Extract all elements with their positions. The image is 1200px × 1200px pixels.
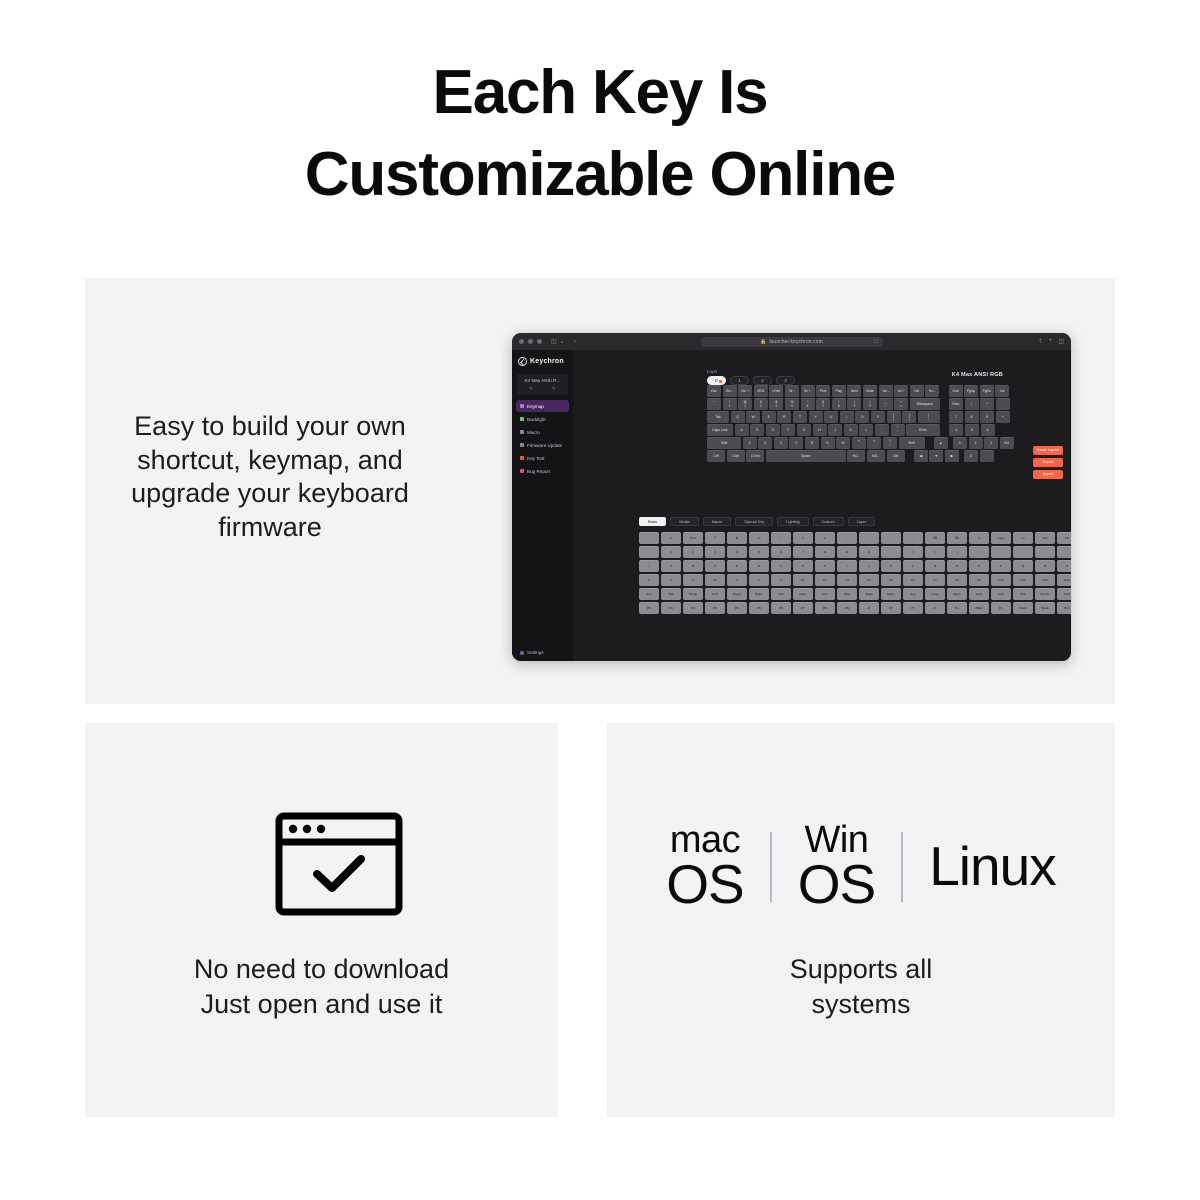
palette-key[interactable]: P0 [639,602,659,614]
keyboard-key[interactable]: I [840,411,854,423]
palette-key[interactable]: R [1035,560,1055,572]
palette-key[interactable]: E [749,560,769,572]
keyboard-key[interactable]: 6 [981,424,995,436]
palette-key[interactable]: Slep [837,588,857,600]
keyboard-key[interactable]: Scr + [738,385,752,397]
layout-action-buttons: Reset Layout Export Import [1033,446,1063,479]
palette-key[interactable]: 9 [837,546,857,558]
palette-key[interactable]: ' [1013,546,1033,558]
keyboard-key[interactable]: Vol - [879,385,893,397]
palette-key[interactable]: F6 [903,574,923,586]
page-title-line2: Customizable Online [0,134,1200,216]
palette-key[interactable]: P/ [881,602,901,614]
palette-key[interactable]: 7 [793,546,813,558]
palette-key[interactable]: Pwr [815,588,835,600]
keyboard-key[interactable]: 0 [964,450,978,462]
palette-key[interactable]: A [661,560,681,572]
palette-key[interactable]: ⎋ [661,532,681,544]
layer-button-0[interactable]: 0 [707,376,726,385]
os-linux-label: Linux [929,841,1055,893]
palette-key[interactable]: V [683,574,703,586]
traffic-light-close-icon[interactable] [519,339,524,344]
keyboard-key[interactable]: ▼ [929,450,943,462]
keyboard-key[interactable]: + [996,411,1010,423]
palette-key[interactable]: L [903,560,923,572]
palette-key[interactable]: F1 [793,574,813,586]
palette-key[interactable]: = [903,546,923,558]
palette-key[interactable]: 0 [859,546,879,558]
palette-key[interactable]: Lang [925,588,945,600]
keyboard-key[interactable]: Ctrl [887,450,905,462]
palette-key[interactable]: PEnt [969,602,989,614]
keyboard-key[interactable]: Ho... [925,385,939,397]
palette-key[interactable]: → [859,532,879,544]
palette-key[interactable]: F12 [1035,574,1055,586]
palette-key[interactable]: \ [969,546,989,558]
address-bar[interactable]: 🔒 launcher.keychron.com ☐ [701,337,883,347]
keyboard-key[interactable]: Y [809,411,823,423]
traffic-light-minimize-icon[interactable] [528,339,533,344]
keyboard-key[interactable]: Shift [899,437,925,449]
keyboard-key[interactable]: Play [832,385,846,397]
keyboard-key[interactable]: M [836,437,850,449]
palette-key[interactable]: ] [947,546,967,558]
keyboard-key[interactable]: W [746,411,760,423]
palette-key[interactable]: ⇥ [969,532,989,544]
palette-key[interactable]: Calc [991,588,1011,600]
keyboard-key[interactable]: Enter [906,424,940,436]
keyboard-key[interactable]: Ins [995,385,1009,397]
keyboard-key[interactable]: :; [875,424,889,436]
palette-key[interactable]: ` [639,546,659,558]
caption-supports-all-systems: Supports all systems [607,952,1115,1022]
keyboard-key[interactable]: Vol + [894,385,908,397]
palette-key[interactable]: K [881,560,901,572]
keyboard-key[interactable]: 1 [953,437,967,449]
chevron-left-icon[interactable]: ‹ [574,339,577,345]
keyboard-key[interactable]: L [859,424,873,436]
palette-key[interactable]: 3 [705,546,725,558]
keyboard-key[interactable]: Ctrl [707,450,725,462]
keyboard-gap [942,424,948,436]
keyboard-key[interactable]: Q [731,411,745,423]
layer-button-1[interactable]: 1 [730,376,749,385]
sidebar-item-label: Key Test [527,456,545,461]
palette-key[interactable]: ⇧ [793,532,813,544]
palette-key[interactable]: ← [837,532,857,544]
palette-key[interactable]: P1 [661,602,681,614]
sidebar-item-keymap[interactable]: Keymap [516,400,569,412]
keyboard-key[interactable]: 7 [949,411,963,423]
keyboard-key[interactable]: LOpt [727,450,745,462]
feature-card-no-download [85,723,558,1117]
layer-selector: Layer 0 1 2 3 [707,369,795,385]
palette-key[interactable]: . [1057,546,1071,558]
sidebar-item-backlight[interactable]: Backlight [516,413,569,425]
keyboard-key[interactable]: R [777,411,791,423]
palette-key[interactable]: Z [771,574,791,586]
palette-key[interactable]: Menu [881,588,901,600]
palette-key[interactable]: G [793,560,813,572]
palette-key[interactable]: 4 [727,546,747,558]
sidebar-item-label: Keymap [527,404,544,409]
address-bar-url: launcher.keychron.com [769,339,823,345]
palette-key[interactable]: Q [1013,560,1033,572]
keyboard-key[interactable]: *8 [832,398,846,410]
palette-key[interactable]: C [705,560,725,572]
keyboard-gap [941,385,947,397]
keyboard-key[interactable]: )0 [863,398,877,410]
palette-key[interactable]: PgUp [727,588,747,600]
launcher-description: Easy to build your own shortcut, keymap,… [110,410,430,544]
browser-titlebar: ◫ ⌄ ‹ 🔒 launcher.keychron.com ☐ ⇡ + ◫ [512,333,1071,350]
palette-key[interactable]: ⌦ [947,532,967,544]
palette-row: `1234567890-=[]\;',. [639,546,1059,558]
keyboard-key[interactable]: MO... [867,450,885,462]
palette-key[interactable]: P [991,560,1011,572]
keyboard-key[interactable]: U [824,411,838,423]
keyboard-key[interactable]: G [797,424,811,436]
keyboard-key[interactable]: H [813,424,827,436]
keyboard-gap [906,450,912,462]
keyboard-key[interactable]: (9 [847,398,861,410]
keyboard-key[interactable]: !1 [723,398,737,410]
palette-key[interactable]: Y [749,574,769,586]
palette-key[interactable]: P2 [683,602,703,614]
tab-macro[interactable]: Macro [703,517,732,526]
keymap-icon [520,404,524,408]
palette-key[interactable]: P7 [793,602,813,614]
palette-key[interactable]: End [705,588,725,600]
macro-icon [520,430,524,434]
device-card[interactable]: K4 Max ANSI R... ✎ ✎ [517,374,568,395]
keyboard-key[interactable]: X [758,437,772,449]
keyboard-row: ~`!1@2#3$4%5^6&7*8(9)0_-+=BackspaceNum/*… [707,398,1037,410]
layer-button-3[interactable]: 3 [776,376,795,385]
palette-key[interactable]: P+ [947,602,967,614]
palette-key[interactable]: F7 [925,574,945,586]
os-macos-bottom: OS [666,859,743,911]
keyboard-key[interactable]: J [828,424,842,436]
share-icon[interactable]: ⇡ [1038,338,1043,345]
palette-key[interactable]: F8 [947,574,967,586]
keyboard-key[interactable]: D [766,424,780,436]
export-button[interactable]: Export [1033,458,1063,467]
keyboard-key[interactable]: Ent [1000,437,1014,449]
browser-window-mockup: ◫ ⌄ ‹ 🔒 launcher.keychron.com ☐ ⇡ + ◫ Ke… [512,333,1071,661]
palette-key[interactable]: P. [859,602,879,614]
keyboard-key[interactable]: Br + [801,385,815,397]
palette-key[interactable]: T [639,574,659,586]
palette-key[interactable]: B [683,560,703,572]
keyboard-key[interactable]: += [894,398,908,410]
keyboard-key[interactable]: F [781,424,795,436]
palette-key[interactable]: PgDn [749,588,769,600]
keyboard-key[interactable]: Tab [707,411,729,423]
app-main: Layer 0 1 2 3 K4 Max ANSI RGB EscScr -Sc… [573,350,1071,661]
keyboard-key[interactable]: PgDn [980,385,994,397]
palette-key[interactable]: 5 [749,546,769,558]
palette-key[interactable]: Paus [793,588,813,600]
palette-key[interactable]: Lock [969,588,989,600]
sidebar-icon[interactable]: ◫ ⌄ [551,339,565,345]
keyboard-key[interactable]: 4 [949,424,963,436]
palette-key[interactable]: ☰ [705,532,725,544]
palette-key[interactable]: , [1035,546,1055,558]
palette-key[interactable]: F4 [859,574,879,586]
keyboard-key[interactable]: K [844,424,858,436]
keyboard-key[interactable]: |\ [918,411,940,423]
palette-key[interactable]: [ [925,546,945,558]
keyboard-key[interactable]: Caps Lock [707,424,733,436]
keyboard-key[interactable]: 9 [980,411,994,423]
keyboard-row: Caps LockASDFGHJKL:;"'Enter456 [707,424,1037,436]
keyboard-key[interactable]: 2 [969,437,983,449]
tabs-icon[interactable]: ◫ [1058,338,1064,345]
palette-key[interactable]: My PC [1035,588,1055,600]
palette-key[interactable]: Caps [991,532,1011,544]
keyboard-key[interactable]: #3 [754,398,768,410]
keyboard-key[interactable]: ▲ [934,437,948,449]
keyboard-key[interactable]: 5 [965,424,979,436]
keyboard-key[interactable]: Backspace [910,398,940,410]
caption-line-1: No need to download [85,952,558,987]
palette-key[interactable]: Fn [1013,532,1033,544]
palette-key[interactable]: Wake [859,588,879,600]
keyboard-key[interactable]: Space [766,450,846,462]
keyboard-key[interactable]: Scr - [723,385,737,397]
keyboard-key[interactable]: / [965,398,979,410]
keyboard-key[interactable]: N [821,437,835,449]
keyboard-key[interactable]: RC... [847,450,865,462]
caption-line-2: Just open and use it [85,987,558,1022]
layer-label: Layer [707,369,795,374]
keyboard-key[interactable]: PgUp [964,385,978,397]
keyboard-title: K4 Max ANSI RGB [952,372,1003,378]
palette-key[interactable]: 1 [661,546,681,558]
palette-key[interactable]: Ins [1057,532,1071,544]
tab-custom[interactable]: Custom [813,517,844,526]
sidebar-item-firmware-update[interactable]: Firmware Update [516,439,569,451]
keychron-logo-icon [518,357,527,366]
keyboard-key[interactable]: Z [743,437,757,449]
keyboard-key[interactable]: Next [847,385,861,397]
keyboard-key[interactable]: ^6 [801,398,815,410]
pencil-icon[interactable]: ✎ [529,386,533,392]
keyboard-key[interactable]: {[ [887,411,901,423]
keyboard-key[interactable]: Mute [863,385,877,397]
palette-key[interactable]: M [925,560,945,572]
keyboard-key[interactable]: $4 [769,398,783,410]
palette-key[interactable]: 8 [815,546,835,558]
divider [770,832,772,902]
palette-key[interactable]: N [947,560,967,572]
tab-basic[interactable]: Basic [639,517,666,526]
palette-key[interactable]: ⌥ [749,532,769,544]
caption-line-1: Supports all [607,952,1115,987]
keyboard-key[interactable]: ▶ [945,450,959,462]
palette-key[interactable]: F9 [969,574,989,586]
palette-key[interactable] [639,532,659,544]
palette-key[interactable]: Tab [661,588,681,600]
keyboard-key[interactable]: Esc [707,385,721,397]
keyboard-key[interactable]: P [871,411,885,423]
palette-key[interactable]: 2 [683,546,703,558]
palette-key[interactable]: Num [1057,574,1071,586]
keyboard-key[interactable]: O [855,411,869,423]
palette-key[interactable]: S [1057,560,1071,572]
palette-key[interactable]: P5 [749,602,769,614]
keyboard-layout[interactable]: EscScr -Scr +MCtlLPadBr -Br +PrvsPlayNex… [707,385,1037,464]
keyboard-key[interactable]: Prvs [816,385,830,397]
os-linux: Linux [929,841,1055,893]
keyboard-key[interactable]: ◀ [914,450,928,462]
palette-key[interactable]: SLck [1035,602,1055,614]
palette-key[interactable]: NLck [1013,602,1033,614]
layer-button-2[interactable]: 2 [753,376,772,385]
bug-icon [520,469,524,473]
bookmark-icon[interactable]: ☐ [874,339,878,345]
device-actions: ✎ ✎ [520,386,565,392]
palette-key[interactable]: ⌃ [771,532,791,544]
keyboard-key[interactable]: . [980,450,994,462]
palette-key[interactable]: Prnt [1057,602,1071,614]
traffic-light-zoom-icon[interactable] [537,339,542,344]
keyboard-key[interactable]: T [793,411,807,423]
palette-key[interactable]: Scrl [771,588,791,600]
os-macos: mac OS [666,823,743,910]
palette-key[interactable]: P9 [837,602,857,614]
palette-key[interactable]: F [771,560,791,572]
palette-row: TUVWXYZF1F2F3F4F5F6F7F8F9F10F11F12Num [639,574,1059,586]
keyboard-row: EscScr -Scr +MCtlLPadBr -Br +PrvsPlayNex… [707,385,1037,397]
page-title: Each Key Is Customizable Online [0,52,1200,216]
gear-icon [520,651,524,655]
palette-key[interactable]: P- [925,602,945,614]
keyboard-key[interactable]: Num [949,398,963,410]
tab-layer[interactable]: Layer [848,517,876,526]
palette-key[interactable]: - [881,546,901,558]
palette-key[interactable]: Prnt [683,532,703,544]
link-icon[interactable]: ✎ [552,386,556,392]
palette-key[interactable]: ↓ [903,532,923,544]
sidebar-item-settings[interactable]: Settings [512,650,573,655]
palette-key[interactable]: I [837,560,857,572]
keyboard-key[interactable]: Shift [707,437,741,449]
keyboard-key[interactable]: <, [852,437,866,449]
palette-key[interactable]: ; [991,546,1011,558]
plus-icon[interactable]: + [1049,338,1053,345]
palette-key[interactable]: Mail [1013,588,1033,600]
keyboard-key[interactable]: %5 [785,398,799,410]
palette-key[interactable]: W [705,574,725,586]
palette-key[interactable]: Find [1057,588,1071,600]
keyboard-key[interactable]: }] [902,411,916,423]
palette-key[interactable]: ⌫ [925,532,945,544]
keyboard-key[interactable]: A [735,424,749,436]
keycode-category-tabs: Basic Media Macro Special Key Lighting C… [639,517,875,526]
palette-key[interactable]: P* [903,602,923,614]
tab-lighting[interactable]: Lighting [777,517,808,526]
palette-key[interactable]: J [859,560,879,572]
palette-key[interactable]: F3 [837,574,857,586]
keycode-palette[interactable]: ⎋Prnt☰⌘⌥⌃⇧↵←→↑↓⌫⌦⇥CapsFnDelIns`123456789… [639,532,1059,616]
keyboard-key[interactable]: S [750,424,764,436]
sidebar-item-key-test[interactable]: Key Test [516,452,569,464]
tab-special-key[interactable]: Special Key [735,517,773,526]
keyboard-key[interactable]: B [805,437,819,449]
palette-key[interactable]: P6 [771,602,791,614]
palette-key[interactable]: P4 [727,602,747,614]
keyboard-key[interactable]: 8 [965,411,979,423]
keyboard-key[interactable]: &7 [816,398,830,410]
palette-key[interactable]: F2 [815,574,835,586]
keyboard-key[interactable]: MCtl [754,385,768,397]
palette-key[interactable]: Eject [947,588,967,600]
settings-label: Settings [527,650,544,655]
keyboard-key[interactable]: _- [879,398,893,410]
keyboard-key[interactable]: ?/ [883,437,897,449]
bulb-icon [520,417,524,421]
keyboard-gap [941,411,947,423]
keyboard-key[interactable]: - [996,398,1010,410]
sidebar-item-macro[interactable]: Macro [516,426,569,438]
palette-key[interactable]: Esc [639,588,659,600]
palette-key[interactable]: Del [1035,532,1055,544]
palette-key[interactable]: P8 [815,602,835,614]
palette-row: P0P1P2P3P4P5P6P7P8P9P.P/P*P-P+PEntP=NLck… [639,602,1059,614]
page-root: Each Key Is Customizable Online Easy to … [0,0,1200,1200]
reset-layout-button[interactable]: Reset Layout [1033,446,1063,455]
sidebar-item-bug-report[interactable]: Bug Report [516,465,569,477]
keyboard-key[interactable]: LPad [769,385,783,397]
palette-key[interactable]: F11 [1013,574,1033,586]
keyboard-key[interactable]: LCmd [746,450,764,462]
palette-key[interactable]: H [815,560,835,572]
keyboard-key[interactable]: Br - [785,385,799,397]
palette-key[interactable]: Home [683,588,703,600]
keyboard-key[interactable]: 3 [984,437,998,449]
keyboard-key[interactable]: E [762,411,776,423]
palette-key[interactable]: ↑ [881,532,901,544]
palette-key[interactable]: ↵ [815,532,835,544]
palette-key[interactable]: D [727,560,747,572]
keyboard-key[interactable]: "' [891,424,905,436]
keyboard-key[interactable]: End [949,385,963,397]
keyboard-key[interactable]: @2 [738,398,752,410]
palette-key[interactable]: O [969,560,989,572]
palette-key[interactable]: / [639,560,659,572]
palette-key[interactable]: P3 [705,602,725,614]
palette-key[interactable]: F5 [881,574,901,586]
keyboard-key[interactable]: V [789,437,803,449]
palette-key[interactable]: App [903,588,923,600]
keyboard-key[interactable]: Del [910,385,924,397]
keyboard-key[interactable]: >. [867,437,881,449]
palette-key[interactable]: 6 [771,546,791,558]
keyboard-key[interactable]: * [980,398,994,410]
brand-logo: Keychron [512,355,573,371]
keyboard-key[interactable]: ~` [707,398,721,410]
palette-key[interactable]: F10 [991,574,1011,586]
keyboard-key[interactable]: C [774,437,788,449]
palette-key[interactable]: U [661,574,681,586]
palette-key[interactable]: P= [991,602,1011,614]
import-button[interactable]: Import [1033,470,1063,479]
tab-media[interactable]: Media [670,517,698,526]
palette-key[interactable]: X [727,574,747,586]
palette-key[interactable]: ⌘ [727,532,747,544]
